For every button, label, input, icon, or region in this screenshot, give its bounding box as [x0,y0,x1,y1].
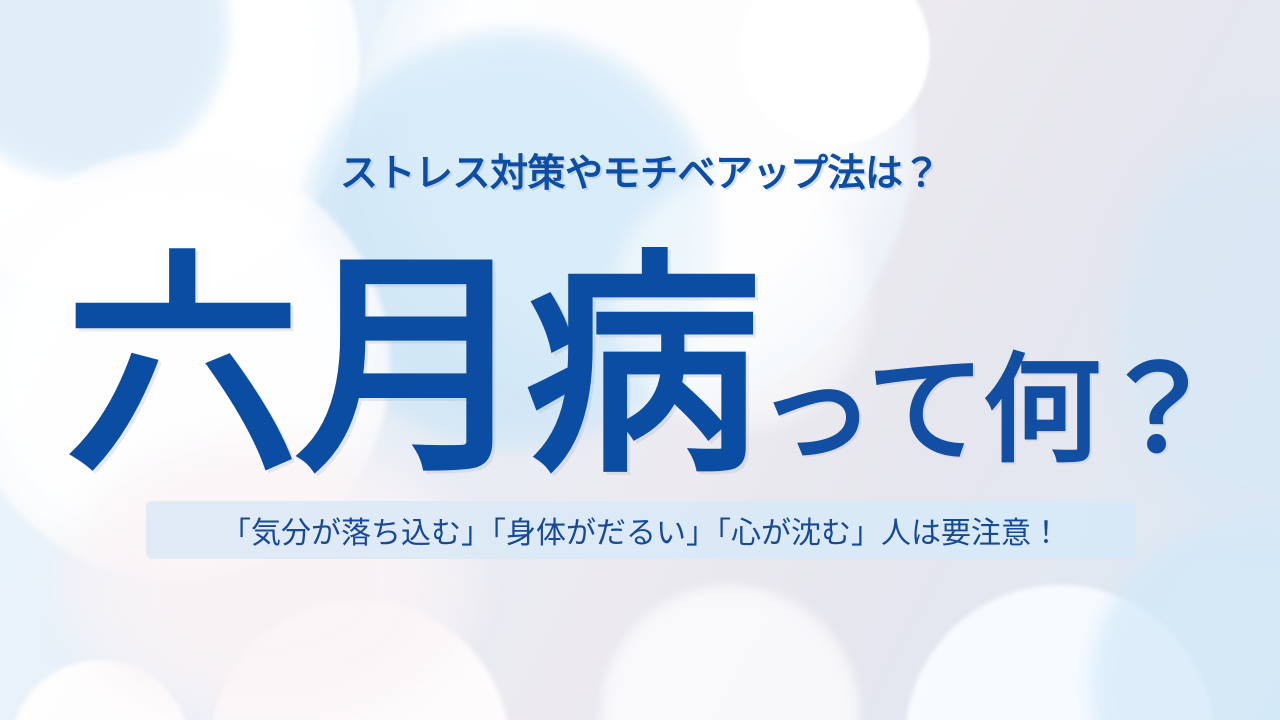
banner-title-main: 六月病 [65,259,755,478]
banner-title-tail: って何？ [757,352,1215,478]
banner-thumbnail: ストレス対策やモチベアップ法は？ 六月病 って何？ 「気分が落ち込む」「身体がだ… [0,0,1280,720]
banner-content: ストレス対策やモチベアップ法は？ 六月病 って何？ 「気分が落ち込む」「身体がだ… [0,0,1280,720]
banner-subtitle: ストレス対策やモチベアップ法は？ [0,142,1280,197]
caption-band: 「気分が落ち込む」「身体がだるい」「心が沈む」人は要注意！ [146,501,1136,559]
banner-caption: 「気分が落ち込む」「身体がだるい」「心が沈む」人は要注意！ [221,508,1061,552]
banner-title: 六月病 って何？ [0,228,1280,478]
